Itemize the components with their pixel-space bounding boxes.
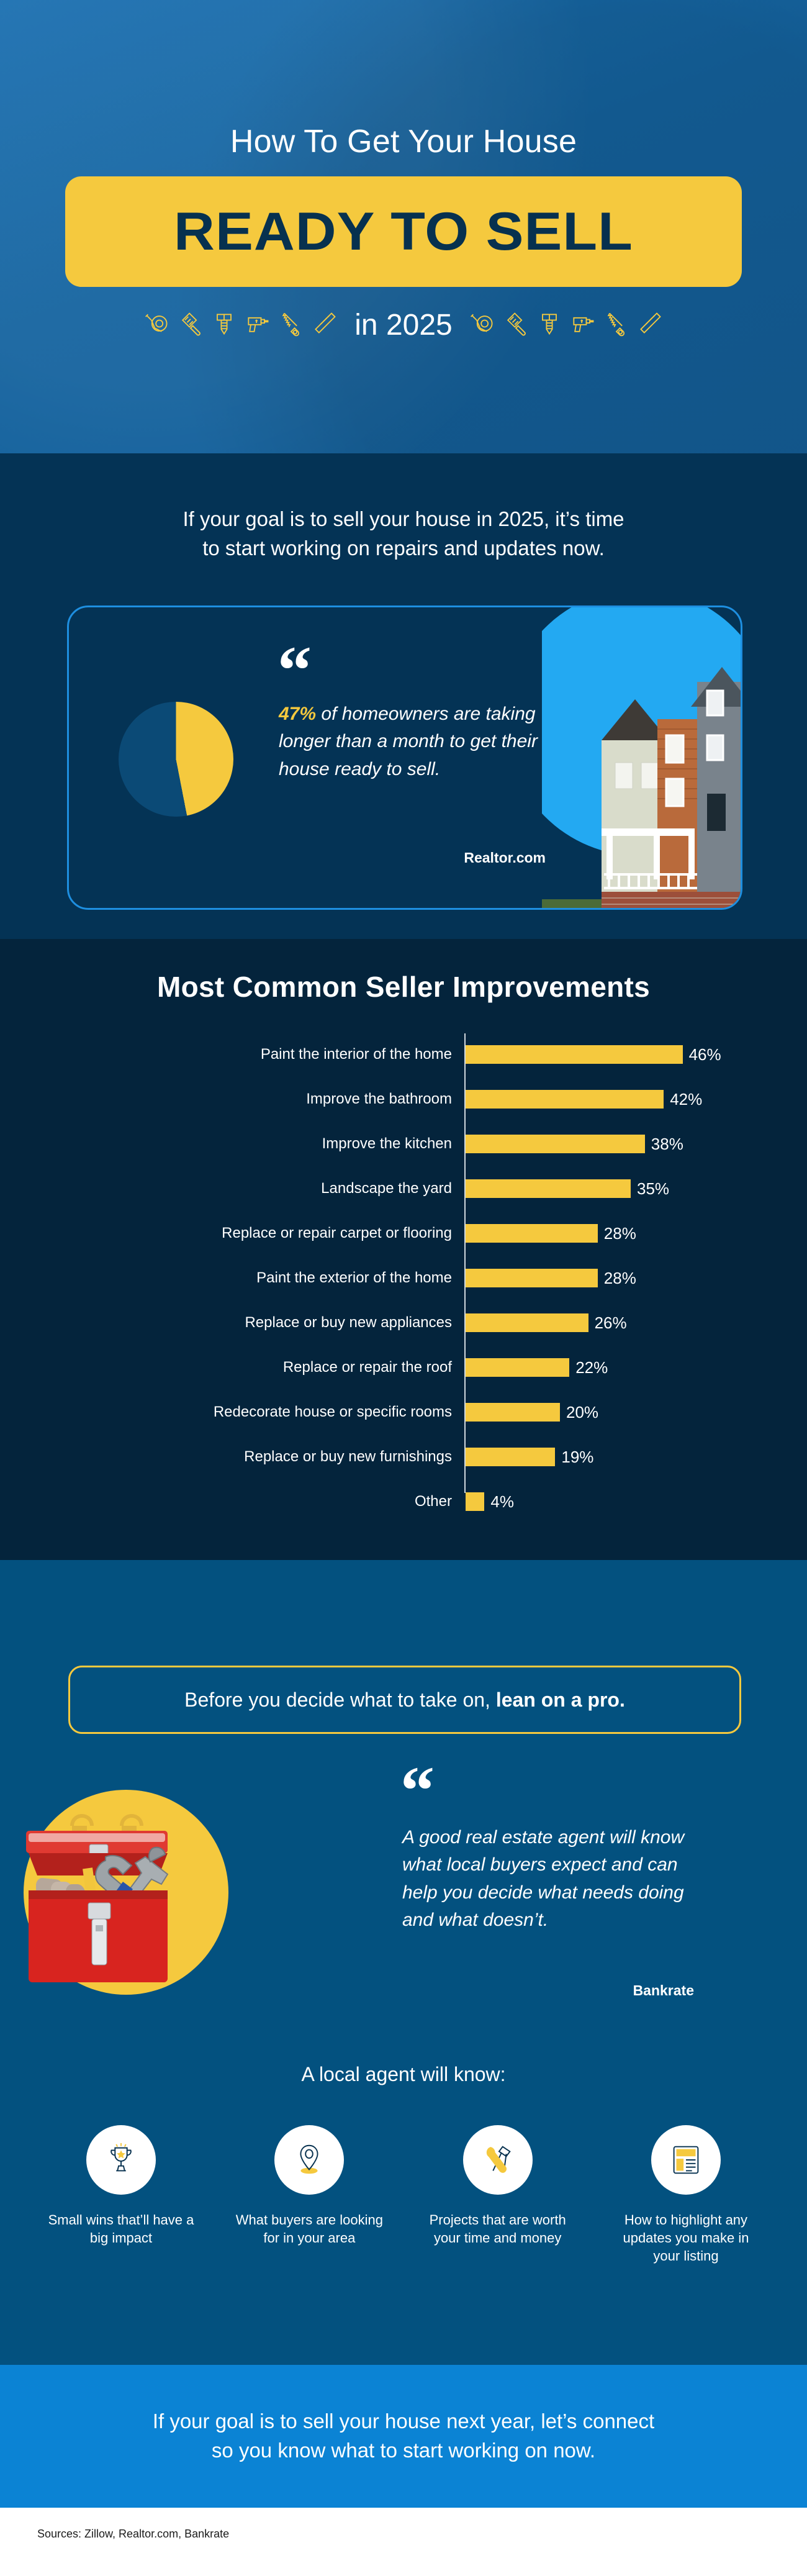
chart-title: Most Common Seller Improvements — [0, 970, 807, 1004]
chart-bar-value: 28% — [604, 1224, 636, 1243]
map-pin-icon — [274, 2125, 344, 2195]
chart-bar-label: Replace or repair carpet or flooring — [104, 1225, 452, 1242]
footer-cta-text: If your goal is to sell your house next … — [153, 2407, 654, 2465]
pro-tip-text: Before you decide what to take on, lean … — [184, 1689, 625, 1712]
agent-benefit-caption: Projects that are worth your time and mo… — [420, 2211, 575, 2247]
pro-tip-box: Before you decide what to take on, lean … — [68, 1666, 741, 1734]
pie-chart-47-percent — [119, 702, 233, 817]
chart-bar-row: Replace or buy new appliances26% — [0, 1300, 807, 1345]
chart-bar-value: 22% — [575, 1358, 608, 1377]
quote-text: 47% of homeowners are taking longer than… — [279, 701, 546, 783]
bar-chart-section: Most Common Seller Improvements Paint th… — [0, 939, 807, 1560]
footer-cta-band: If your goal is to sell your house next … — [0, 2365, 807, 2508]
trophy-icon — [86, 2125, 156, 2195]
agent-benefit-list: Small wins that’ll have a big impactWhat… — [43, 2125, 764, 2265]
intro-paragraph: If your goal is to sell your house in 20… — [0, 505, 807, 563]
tool-icon-row-right — [469, 310, 664, 340]
chart-bar-row: Improve the kitchen38% — [0, 1122, 807, 1166]
hero-headline-band: READY TO SELL — [65, 176, 742, 287]
page-title: How To Get Your House — [230, 124, 577, 159]
hero-year-text: in 2025 — [354, 308, 452, 342]
chart-bar-label: Replace or repair the roof — [104, 1359, 452, 1376]
chart-bar — [466, 1045, 683, 1064]
chart-bar-value: 28% — [604, 1269, 636, 1288]
chart-bar-label: Landscape the yard — [104, 1180, 452, 1197]
bankrate-quote-text: A good real estate agent will know what … — [402, 1824, 694, 1934]
chart-bar-row: Landscape the yard35% — [0, 1166, 807, 1211]
chart-bar-label: Replace or buy new furnishings — [104, 1448, 452, 1466]
agent-benefit-item: Small wins that’ll have a big impact — [43, 2125, 199, 2265]
footer-line-1: If your goal is to sell your house next … — [153, 2407, 654, 2436]
agent-benefit-item: What buyers are looking for in your area — [232, 2125, 387, 2265]
quote-mark-icon: “ — [400, 1766, 435, 1815]
chart-bar — [466, 1313, 588, 1332]
house-photo — [542, 607, 741, 910]
square-ruler-icon — [311, 310, 338, 340]
hero-section: How To Get Your House READY TO SELL in 2… — [0, 0, 807, 453]
footer-line-2: so you know what to start working on now… — [153, 2436, 654, 2465]
pro-tip-section: Before you decide what to take on, lean … — [0, 1560, 807, 2365]
agent-benefit-caption: How to highlight any updates you make in… — [608, 2211, 764, 2265]
hero-tools-and-year: in 2025 — [37, 308, 770, 342]
chart-bar-value: 20% — [566, 1403, 598, 1422]
agent-benefit-caption: Small wins that’ll have a big impact — [43, 2211, 199, 2247]
chart-bar — [466, 1224, 598, 1243]
chart-bar — [466, 1492, 484, 1511]
hero-headline-text: READY TO SELL — [174, 205, 633, 258]
quote-body: of homeowners are taking longer than a m… — [279, 704, 538, 779]
chart-bar-value: 19% — [561, 1448, 593, 1467]
chart-bar-label: Other — [104, 1493, 452, 1510]
chart-bar — [466, 1403, 560, 1422]
chart-bar-value: 35% — [637, 1179, 669, 1199]
chart-bar-row: Other4% — [0, 1479, 807, 1524]
realtor-quote-card: “ 47% of homeowners are taking longer th… — [67, 605, 742, 910]
bankrate-quote-source: Bankrate — [402, 1982, 694, 1999]
chart-bar — [466, 1269, 598, 1287]
pro-tip-normal: Before you decide what to take on, — [184, 1689, 496, 1711]
chart-bar — [466, 1135, 645, 1153]
hand-saw-icon — [603, 310, 630, 340]
chart-bar-row: Replace or repair carpet or flooring28% — [0, 1211, 807, 1256]
chart-bar-value: 26% — [595, 1313, 627, 1333]
square-ruler-icon — [636, 310, 664, 340]
chart-bar-value: 4% — [490, 1492, 514, 1512]
agent-benefit-item: How to highlight any updates you make in… — [608, 2125, 764, 2265]
chart-bar-row: Replace or buy new furnishings19% — [0, 1435, 807, 1479]
chart-bar-value: 42% — [670, 1090, 702, 1109]
chart-rows: Paint the interior of the home46%Improve… — [0, 1032, 807, 1524]
paint-brush-icon — [502, 310, 530, 340]
chart-bar-row: Improve the bathroom42% — [0, 1077, 807, 1122]
quote-source: Realtor.com — [279, 850, 546, 866]
intro-line-2: to start working on repairs and updates … — [0, 534, 807, 563]
agent-benefit-item: Projects that are worth your time and mo… — [420, 2125, 575, 2265]
chart-bar-row: Paint the interior of the home46% — [0, 1032, 807, 1077]
chart-bar — [466, 1448, 555, 1466]
screw-bolt-icon — [210, 310, 238, 340]
chart-bar-label: Redecorate house or specific rooms — [104, 1404, 452, 1421]
chart-bar-row: Paint the exterior of the home28% — [0, 1256, 807, 1300]
agent-benefit-caption: What buyers are looking for in your area — [232, 2211, 387, 2247]
chart-bar-label: Replace or buy new appliances — [104, 1314, 452, 1331]
chart-bar-row: Replace or repair the roof22% — [0, 1345, 807, 1390]
tools-icon — [463, 2125, 533, 2195]
chart-bar-label: Paint the exterior of the home — [104, 1269, 452, 1287]
chart-bar-label: Improve the kitchen — [104, 1135, 452, 1153]
intro-quote-section: If your goal is to sell your house in 20… — [0, 453, 807, 939]
chart-bar — [466, 1179, 631, 1198]
chart-bar-value: 46% — [689, 1045, 721, 1064]
power-drill-icon — [569, 310, 597, 340]
tape-measure-icon — [143, 310, 171, 340]
paint-brush-icon — [177, 310, 204, 340]
screw-bolt-icon — [536, 310, 563, 340]
agent-section-heading: A local agent will know: — [0, 2063, 807, 2086]
pro-tip-bold: lean on a pro. — [496, 1689, 625, 1711]
toolbox-photo — [12, 1803, 211, 1990]
chart-bar-label: Paint the interior of the home — [104, 1046, 452, 1063]
chart-bar-label: Improve the bathroom — [104, 1091, 452, 1108]
tape-measure-icon — [469, 310, 496, 340]
hand-saw-icon — [277, 310, 305, 340]
tool-icon-row-left — [143, 310, 338, 340]
chart-bar — [466, 1090, 664, 1109]
chart-bar-value: 38% — [651, 1135, 683, 1154]
quote-mark-icon: “ — [277, 646, 312, 695]
intro-line-1: If your goal is to sell your house in 20… — [0, 505, 807, 534]
power-drill-icon — [244, 310, 271, 340]
quote-highlight: 47% — [279, 704, 316, 724]
sources-note: Sources: Zillow, Realtor.com, Bankrate — [37, 2528, 229, 2541]
chart-bar-row: Redecorate house or specific rooms20% — [0, 1390, 807, 1435]
chart-bar — [466, 1358, 569, 1377]
listing-card-icon — [651, 2125, 721, 2195]
